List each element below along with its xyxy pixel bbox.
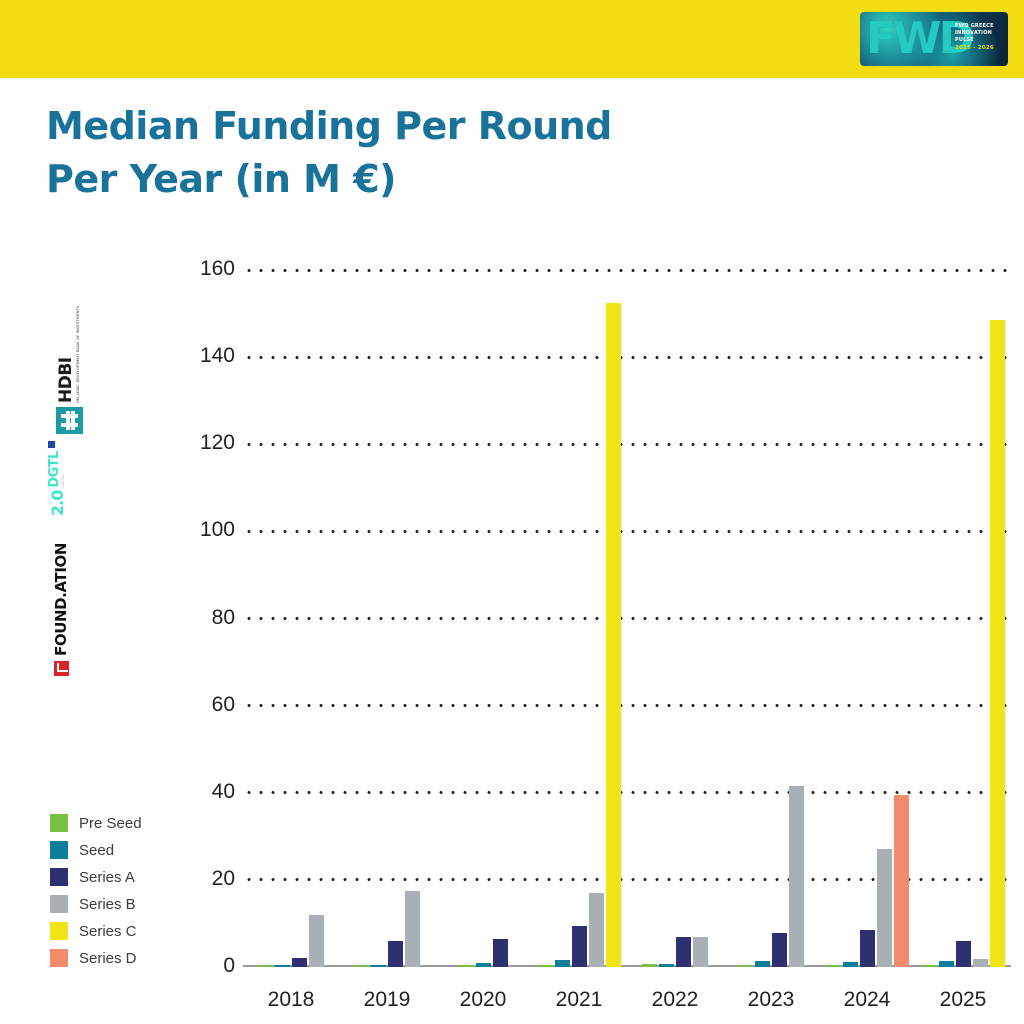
y-axis-tick-label: 100 [179, 518, 235, 542]
gridline [243, 791, 1011, 794]
bar-pre-seed[interactable] [354, 965, 369, 967]
legend-item[interactable]: Series A [50, 866, 142, 888]
bar-series-b[interactable] [309, 915, 324, 967]
gridline [243, 269, 1011, 272]
bar-series-a[interactable] [772, 933, 787, 967]
partner-logo-hdbi: HDBI HELLENIC DEVELOPMENT BANK OF INVEST… [26, 330, 84, 440]
x-axis-tick-label: 2019 [339, 988, 435, 1012]
bar-group [435, 939, 531, 967]
fwd-logo-line1: FWD GREECE [955, 23, 994, 29]
hdbi-mark-icon [56, 407, 83, 434]
x-axis-tick-label: 2020 [435, 988, 531, 1012]
bar-group [915, 320, 1011, 967]
fwd-logo-line2: INNOVATION [955, 30, 992, 36]
fwd-logo-badge: FWD FWD GREECE INNOVATION PULSE 2025 - 2… [860, 12, 1008, 66]
bar-series-b[interactable] [973, 959, 988, 967]
dgtl-tagline: DIGITAL [62, 451, 65, 487]
bar-seed[interactable] [555, 960, 570, 967]
bar-series-b[interactable] [877, 849, 892, 967]
legend-swatch [50, 949, 68, 967]
x-axis-tick-label: 2022 [627, 988, 723, 1012]
legend-item-label: Seed [79, 842, 114, 859]
fwd-logo: FWD FWD GREECE INNOVATION PULSE 2025 - 2… [858, 12, 1008, 66]
gridline [243, 617, 1011, 620]
gridline [243, 356, 1011, 359]
gridline [243, 530, 1011, 533]
fwd-logo-line3: PULSE [955, 37, 974, 43]
x-axis-tick-label: 2025 [915, 988, 1011, 1012]
bar-seed[interactable] [371, 965, 386, 967]
y-axis-tick-label: 120 [179, 431, 235, 455]
bar-pre-seed[interactable] [826, 965, 841, 967]
hdbi-name: HDBI [58, 306, 75, 403]
x-axis-tick-label: 2023 [723, 988, 819, 1012]
legend-item-label: Series A [79, 869, 135, 886]
x-axis-tick-label: 2018 [243, 988, 339, 1012]
bar-seed[interactable] [755, 961, 770, 967]
bar-pre-seed[interactable] [922, 965, 937, 967]
x-axis-tick-label: 2021 [531, 988, 627, 1012]
bar-group [339, 891, 435, 967]
y-axis-tick-label: 140 [179, 344, 235, 368]
bar-series-a[interactable] [388, 941, 403, 967]
legend-swatch [50, 841, 68, 859]
bar-pre-seed[interactable] [538, 965, 553, 967]
partner-logo-dgtl: 2.0 DGTL DIGITAL [26, 460, 84, 520]
fwd-logo-years: 2025 - 2026 [955, 45, 1003, 52]
partner-logo-foundation: FOUND.ATION [26, 550, 84, 680]
bar-pre-seed[interactable] [258, 965, 273, 967]
legend-swatch [50, 922, 68, 940]
bar-seed[interactable] [843, 962, 858, 967]
dgtl-number: 2.0 [51, 491, 65, 516]
y-axis-labels: 020406080100120140160 [179, 270, 235, 967]
legend-item[interactable]: Seed [50, 839, 142, 861]
bar-series-c[interactable] [606, 303, 621, 967]
y-axis-tick-label: 0 [179, 954, 235, 978]
y-axis-tick-label: 60 [179, 693, 235, 717]
partner-logos: HDBI HELLENIC DEVELOPMENT BANK OF INVEST… [26, 330, 84, 680]
bar-series-b[interactable] [405, 891, 420, 967]
chart-page: FWD FWD GREECE INNOVATION PULSE 2025 - 2… [0, 0, 1024, 1024]
y-axis-tick-label: 80 [179, 606, 235, 630]
bar-seed[interactable] [659, 964, 674, 967]
x-axis-tick-label: 2024 [819, 988, 915, 1012]
legend-item[interactable]: Pre Seed [50, 812, 142, 834]
gridline [243, 704, 1011, 707]
bar-seed[interactable] [939, 961, 954, 967]
legend-item-label: Series C [79, 923, 137, 940]
legend-item-label: Series D [79, 950, 137, 967]
bar-pre-seed[interactable] [642, 964, 657, 967]
bar-group [819, 795, 915, 967]
x-axis-labels: 20182019202020212022202320242025 [243, 988, 1011, 1020]
bar-group [723, 786, 819, 967]
bar-series-a[interactable] [572, 926, 587, 967]
top-banner: FWD FWD GREECE INNOVATION PULSE 2025 - 2… [0, 0, 1024, 78]
legend-swatch [50, 868, 68, 886]
foundation-name: FOUND.ATION [52, 543, 70, 656]
legend-item[interactable]: Series C [50, 920, 142, 942]
bar-series-a[interactable] [493, 939, 508, 967]
y-axis-tick-label: 20 [179, 867, 235, 891]
legend-item-label: Series B [79, 896, 136, 913]
dgtl-name: DGTL [48, 451, 61, 487]
bar-group [627, 937, 723, 967]
legend-item[interactable]: Series D [50, 947, 142, 969]
legend-item-label: Pre Seed [79, 815, 142, 832]
bar-series-c[interactable] [990, 320, 1005, 967]
fwd-logo-subtext: FWD GREECE INNOVATION PULSE 2025 - 2026 [955, 23, 1003, 52]
bar-series-a[interactable] [860, 930, 875, 967]
bar-series-a[interactable] [292, 958, 307, 967]
page-title: Median Funding Per Round Per Year (in M … [46, 100, 746, 206]
bar-series-b[interactable] [589, 893, 604, 967]
gridline [243, 443, 1011, 446]
bar-series-a[interactable] [956, 941, 971, 967]
chart-legend: Pre SeedSeedSeries ASeries BSeries CSeri… [50, 812, 142, 969]
hdbi-tagline: HELLENIC DEVELOPMENT BANK OF INVESTMENTS [77, 306, 81, 403]
bar-pre-seed[interactable] [738, 965, 753, 967]
page-title-line1: Median Funding Per Round [46, 104, 612, 148]
page-title-line2: Per Year (in M €) [46, 153, 746, 206]
bar-series-b[interactable] [693, 937, 708, 967]
bar-series-d[interactable] [894, 795, 909, 967]
bar-seed[interactable] [275, 965, 290, 967]
bar-seed[interactable] [476, 963, 491, 967]
bar-group [531, 303, 627, 967]
dgtl-square-icon [48, 441, 55, 448]
y-axis-tick-label: 40 [179, 780, 235, 804]
plot-area [243, 270, 1011, 967]
bar-group [243, 915, 339, 967]
legend-swatch [50, 814, 68, 832]
foundation-mark-icon [54, 661, 69, 676]
legend-item[interactable]: Series B [50, 893, 142, 915]
legend-swatch [50, 895, 68, 913]
bar-series-b[interactable] [789, 786, 804, 967]
bar-series-a[interactable] [676, 937, 691, 967]
bar-pre-seed[interactable] [459, 965, 474, 967]
y-axis-tick-label: 160 [179, 257, 235, 281]
